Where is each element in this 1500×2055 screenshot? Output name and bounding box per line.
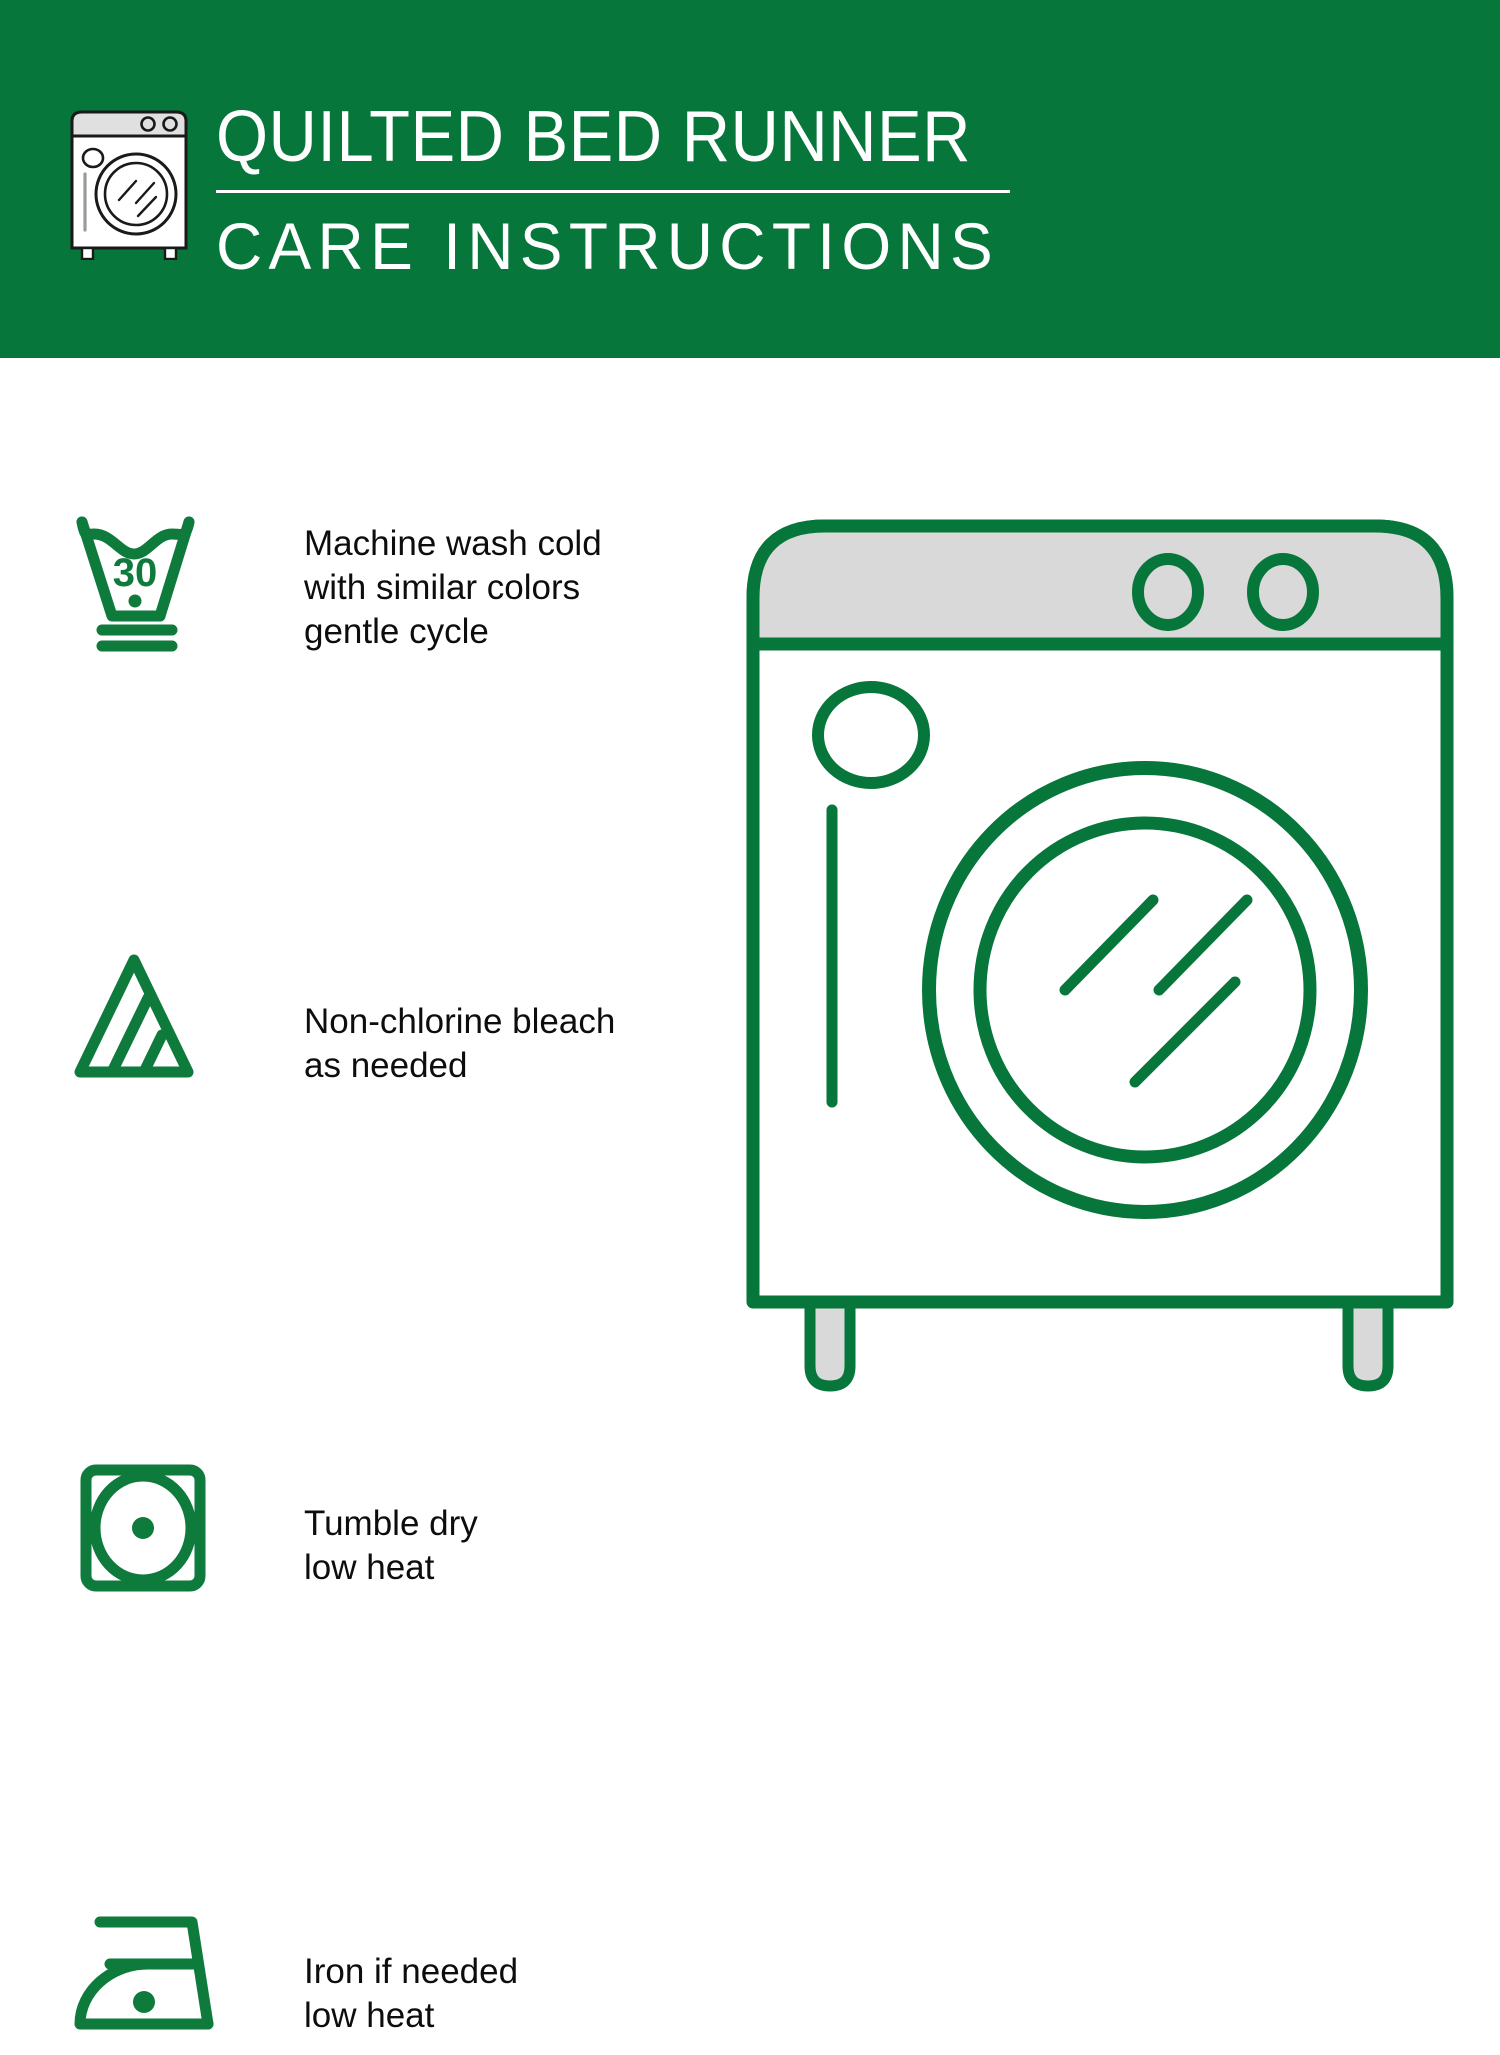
washing-machine-illustration [735, 490, 1465, 1420]
page-subtitle: CARE INSTRUCTIONS [216, 209, 992, 283]
care-item-bleach: Non-chlorine bleach as needed [0, 670, 700, 860]
care-item-iron: Iron if needed low heat [0, 1160, 700, 1340]
iron-low-heat-symbol [66, 1900, 236, 2050]
tumble-dry-low-symbol [78, 1458, 248, 1608]
machine-wash-30-gentle-symbol: 30 [72, 508, 242, 658]
care-item-machine-wash: 30 Machine wash cold with similar colors… [0, 440, 700, 650]
care-item-label-tumble-dry: Tumble dry low heat [304, 1502, 478, 1590]
care-item-label-iron: Iron if needed low heat [304, 1950, 518, 2038]
header-text-block: QUILTED BED RUNNER CARE INSTRUCTIONS [216, 96, 1016, 283]
care-item-label-machine-wash: Machine wash cold with similar colors ge… [304, 522, 602, 654]
care-item-tumble-dry: Tumble dry low heat [0, 930, 700, 1110]
wash-temperature-label: 30 [113, 551, 158, 595]
care-instructions-page: QUILTED BED RUNNER CARE INSTRUCTIONS [0, 0, 1500, 1500]
page-title: QUILTED BED RUNNER [216, 96, 960, 178]
washing-machine-icon [66, 108, 192, 260]
header-band: QUILTED BED RUNNER CARE INSTRUCTIONS [0, 0, 1500, 358]
title-divider [216, 190, 1010, 193]
